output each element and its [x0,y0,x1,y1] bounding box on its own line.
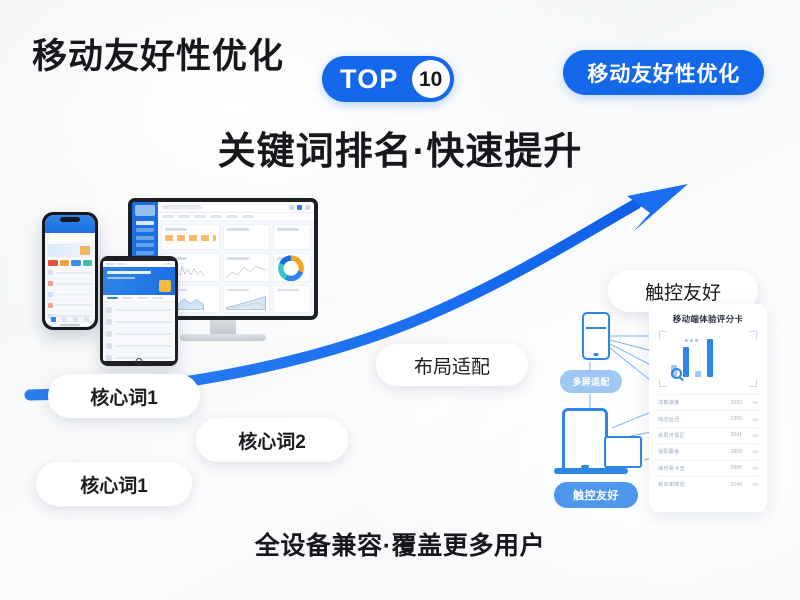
poster-canvas: 移动友好性优化 TOP 10 移动友好性优化 关键词排名·快速提升 [0,0,800,600]
top-rank-badge: TOP 10 [322,56,454,102]
scorecard-title: 移动端体验评分卡 [657,313,759,325]
keyword-pill-3[interactable]: 核心词1 [36,462,192,506]
table-row: 跳出率降低 2249 83 [657,476,759,492]
page-subtitle: 关键词排名·快速提升 [0,120,800,175]
row-score: 95 [746,417,758,422]
dashboard-filterbar [158,213,314,221]
row-label: 响应延迟 [658,416,726,423]
dashboard-card-grid [158,221,314,316]
magnifier-icon [671,368,682,379]
phone-mockup [42,212,98,330]
monitor-base [180,334,266,341]
feature-pill-layout[interactable]: 布局适配 [376,344,528,386]
dashboard-card [161,224,220,250]
dashboard-area-card [223,285,270,314]
row-score: 88 [746,466,758,471]
list-item [48,268,92,279]
tablet-list [103,302,175,361]
scorecard-chart [659,331,757,387]
top-badge-number: 10 [412,60,450,98]
laptop-icon [604,436,642,468]
dashboard-topbar [158,202,314,213]
tablet-mockup [100,256,178,366]
table-row: 适配覆盖 2859 90 [657,443,759,459]
page-title: 移动友好性优化 [32,28,284,79]
phone-banner [48,244,92,257]
row-score: 93 [746,433,758,438]
dashboard-card [223,224,270,250]
dashboard-chart-card [223,253,270,282]
illustration-tag-touch: 触控友好 [554,482,638,508]
dashboard-card [273,224,311,250]
row-value: 5986 [730,465,742,471]
row-value: 2859 [730,449,742,455]
list-item [48,290,92,301]
phone-quick-icons [45,257,95,268]
phone-home-indicator [60,324,80,326]
footer-caption: 全设备兼容·覆盖更多用户 [0,526,800,562]
list-item [48,300,92,311]
illustration-tag-multiscreen: 多屏适配 [560,370,622,393]
row-value: 1200 [730,416,742,422]
dashboard-donut-card [273,253,311,282]
table-row: 操作易点击 5986 88 [657,460,759,476]
top-badge-word: TOP [340,66,412,93]
row-label: 操作易点击 [658,465,726,472]
donut-chart-icon [278,256,304,282]
phone-tabbar [45,317,95,322]
dashboard-card [273,285,311,314]
row-label: 加载速度 [658,399,726,406]
phone-notch [60,217,80,222]
phone-search-bar [49,235,91,241]
row-score: 90 [746,449,758,454]
row-score: 83 [746,482,758,487]
tablet-hero-banner [103,267,175,295]
row-value: 2249 [730,482,742,488]
keyword-pill-1[interactable]: 核心词1 [48,374,200,418]
large-phone-icon [562,408,608,474]
laptop-base [554,468,628,474]
mobile-experience-illustration: 多屏适配 触控友好 移动端体验评分卡 加载速度 2693 [552,300,767,515]
monitor-neck [210,320,236,334]
list-item [106,304,172,316]
table-row: 加载速度 2693 98 [657,394,759,410]
row-label: 适配覆盖 [658,448,726,455]
scorecard-panel: 移动端体验评分卡 加载速度 2693 98 响应延迟 [649,304,767,512]
row-label: 单屏可视区 [658,432,726,439]
table-row: 单屏可视区 3641 93 [657,427,759,443]
list-item [106,328,172,340]
list-item [106,316,172,328]
table-row: 响应延迟 1200 95 [657,410,759,426]
row-label: 跳出率降低 [658,481,726,488]
header-tag-pill: 移动友好性优化 [563,50,764,95]
device-mockup-cluster [28,190,338,380]
tablet-home-button [136,358,143,365]
row-value: 3641 [730,432,742,438]
row-value: 2693 [730,400,742,406]
list-item [106,341,172,353]
small-phone-icon [582,312,610,360]
list-item [48,279,92,290]
row-score: 98 [746,400,758,405]
keyword-pill-2[interactable]: 核心词2 [196,418,348,462]
